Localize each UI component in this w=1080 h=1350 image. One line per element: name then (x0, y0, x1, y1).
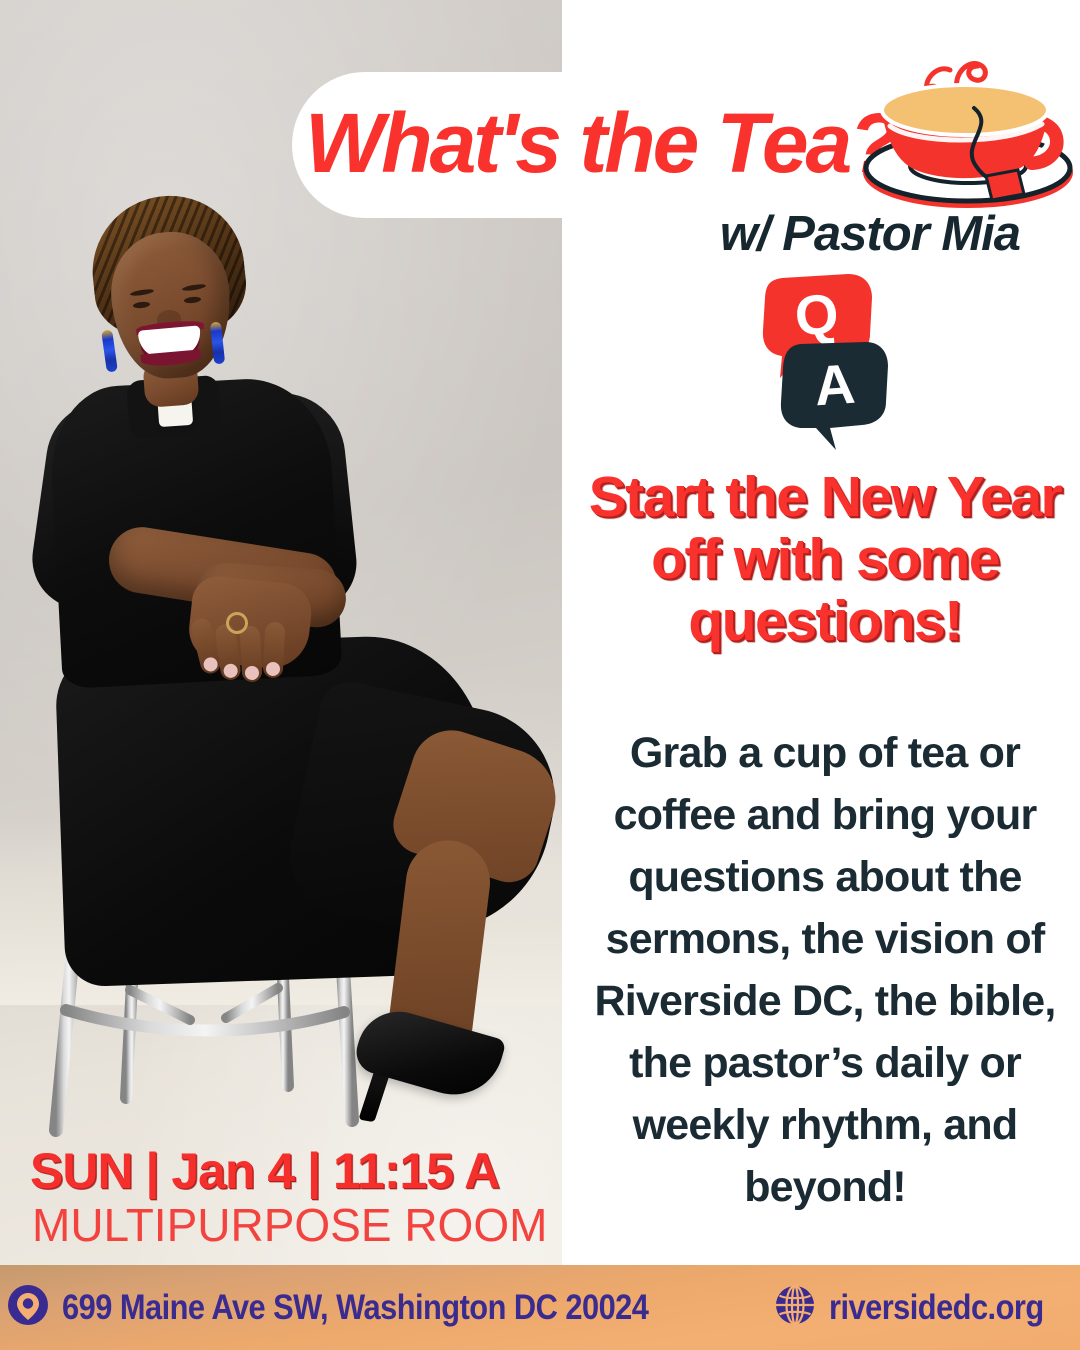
footer-address-group: 699 Maine Ave SW, Washington DC 20024 (7, 1284, 728, 1331)
footer-bar: 699 Maine Ave SW, Washington DC 20024 ri… (0, 1265, 1080, 1350)
headline: Start the New Year off with some questio… (580, 466, 1070, 652)
earring-left (101, 329, 118, 372)
event-location: MULTIPURPOSE ROOM (32, 1198, 547, 1252)
subtitle: w/ Pastor Mia (562, 206, 1062, 262)
finger (240, 626, 263, 683)
footer-website-group[interactable]: riversidedc.org (774, 1284, 1073, 1331)
location-pin-icon (7, 1284, 49, 1331)
teacup-icon (856, 48, 1080, 220)
footer-website[interactable]: riversidedc.org (829, 1288, 1044, 1328)
qa-bubbles: Q A (752, 272, 902, 452)
footer-address: 699 Maine Ave SW, Washington DC 20024 (62, 1288, 648, 1328)
answer-letter: A (812, 352, 857, 418)
poster-canvas: What's the Tea? w/ Pastor Mia (0, 0, 1080, 1350)
globe-icon (774, 1284, 816, 1331)
event-datetime: SUN | Jan 4 | 11:15 A (30, 1142, 499, 1200)
body-copy: Grab a cup of tea or coffee and bring yo… (576, 722, 1074, 1218)
question-letter: Q (793, 282, 841, 348)
finger (263, 622, 286, 679)
page-title: What's the Tea? (305, 78, 905, 208)
